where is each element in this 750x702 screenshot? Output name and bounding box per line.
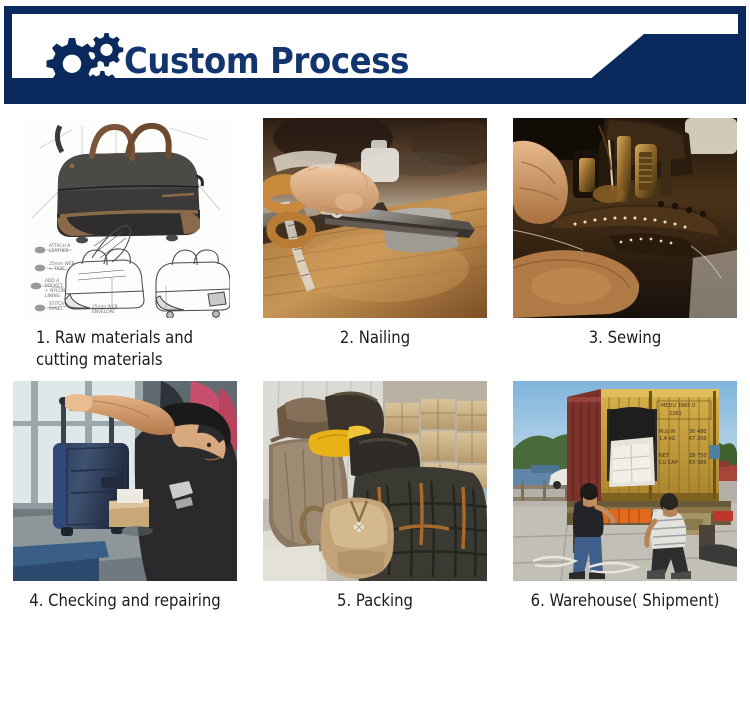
svg-text:+ TAPE: + TAPE [49,266,65,272]
step-caption-3: 3. Sewing [510,327,740,349]
cutting-fabric-scissors-image [263,118,487,318]
step-caption-2: 2. Nailing [260,327,490,349]
header-frame: Custom Process [4,6,746,104]
svg-text:2261: 2261 [669,411,682,417]
svg-text:67 200: 67 200 [689,436,707,442]
process-step-6: MEDU 3985 0 2261 M.G.W 1.4 kG 30 480 67 … [500,381,750,622]
packing-bags-boxes-image [263,381,487,581]
step-caption-4: 4. Checking and repairing [10,590,240,612]
svg-text:LINING: LINING [45,293,61,299]
step-caption-1: 1. Raw materials and cutting materials [10,327,240,371]
process-step-4: 4. Checking and repairing [0,381,250,622]
container-loading-image: MEDU 3985 0 2261 M.G.W 1.4 kG 30 480 67 … [513,381,737,581]
page-title: Custom Process [124,41,409,83]
svg-text:63 380: 63 380 [689,460,707,466]
process-steps-grid: ATTACH A LEATHER 25mm WEB + TAPE ADD A P… [0,118,750,622]
custom-process-infographic: Custom Process [0,0,750,702]
svg-text:1.4 kG: 1.4 kG [659,436,675,442]
process-step-2: 2. Nailing [250,118,500,381]
process-step-3: 3. Sewing [500,118,750,381]
quality-check-suitcase-image [13,381,237,581]
svg-text:PANEL: PANEL [49,306,63,312]
process-step-1: ATTACH A LEATHER 25mm WEB + TAPE ADD A P… [0,118,250,381]
step-caption-6: 6. Warehouse( Shipment) [510,590,740,612]
svg-text:MEDU 3985 0: MEDU 3985 0 [661,403,695,409]
process-step-5: 5. Packing [250,381,500,622]
svg-text:28 750: 28 750 [689,453,707,459]
svg-text:CU CAP: CU CAP [659,460,678,466]
svg-text:LEATHER: LEATHER [49,248,69,254]
bag-design-sketch-image: ATTACH A LEATHER 25mm WEB + TAPE ADD A P… [20,118,230,318]
svg-text:M.G.W: M.G.W [659,429,675,435]
svg-text:30 480: 30 480 [689,429,707,435]
sewing-machine-image [513,118,737,318]
svg-text:ENVELOPE: ENVELOPE [92,309,115,315]
svg-text:NET: NET [659,453,670,459]
header-banner: Custom Process [4,6,746,104]
step-caption-5: 5. Packing [260,590,490,612]
header-bottom-bar [12,78,746,96]
